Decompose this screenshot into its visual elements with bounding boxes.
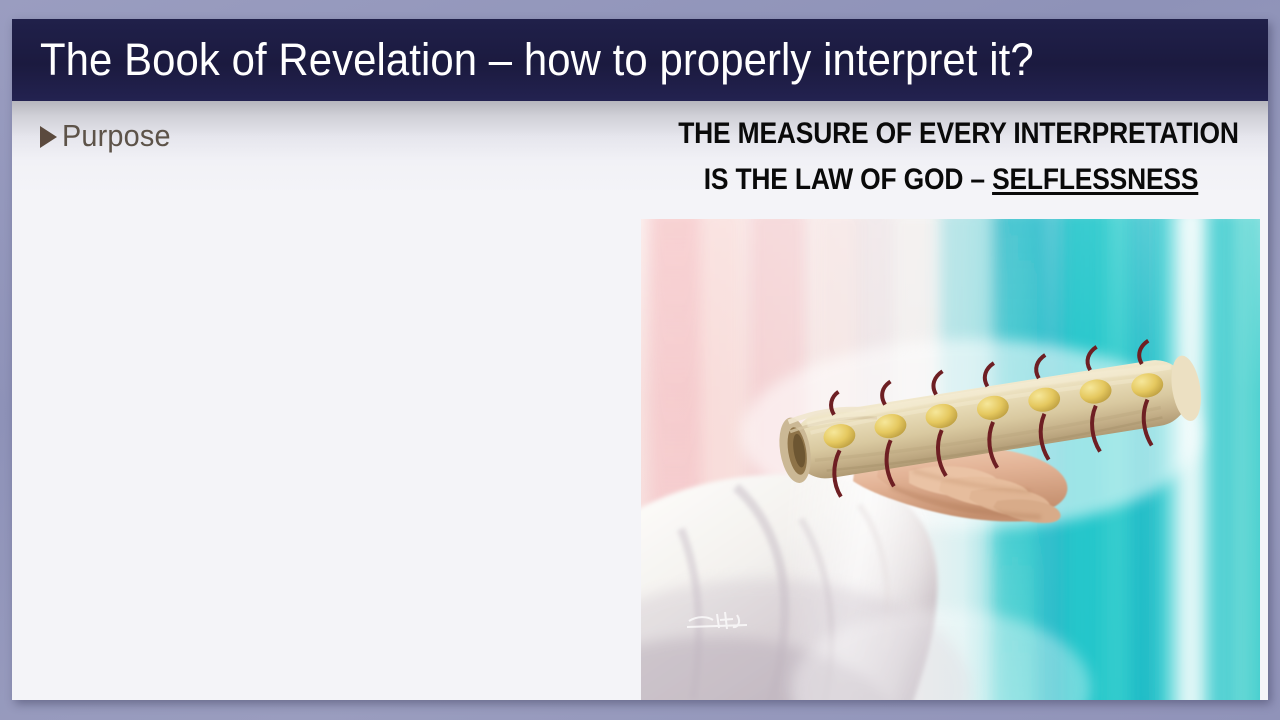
measure-heading-line-1: THE MEASURE OF EVERY INTERPRETATION [678, 111, 1224, 157]
scroll-illustration-artwork [641, 219, 1260, 700]
measure-heading-line-2: IS THE LAW OF GOD – SELFLESSNESS [678, 157, 1224, 203]
bullet-item-label: Purpose [62, 118, 171, 154]
measure-heading: THE MEASURE OF EVERY INTERPRETATION IS T… [641, 111, 1261, 202]
slide-body: Purpose THE MEASURE OF EVERY INTERPRETAT… [12, 101, 1268, 700]
scroll-illustration [641, 219, 1260, 700]
triangle-right-icon [40, 126, 57, 148]
measure-heading-line-2-prefix: IS THE LAW OF GOD – [704, 163, 992, 196]
slide-title-bar: The Book of Revelation – how to properly… [12, 19, 1268, 101]
measure-heading-emphasis: SELFLESSNESS [992, 163, 1198, 196]
bullet-item-purpose: Purpose [40, 118, 179, 154]
page-title: The Book of Revelation – how to properly… [40, 34, 1034, 86]
slide-canvas: The Book of Revelation – how to properly… [12, 19, 1268, 700]
